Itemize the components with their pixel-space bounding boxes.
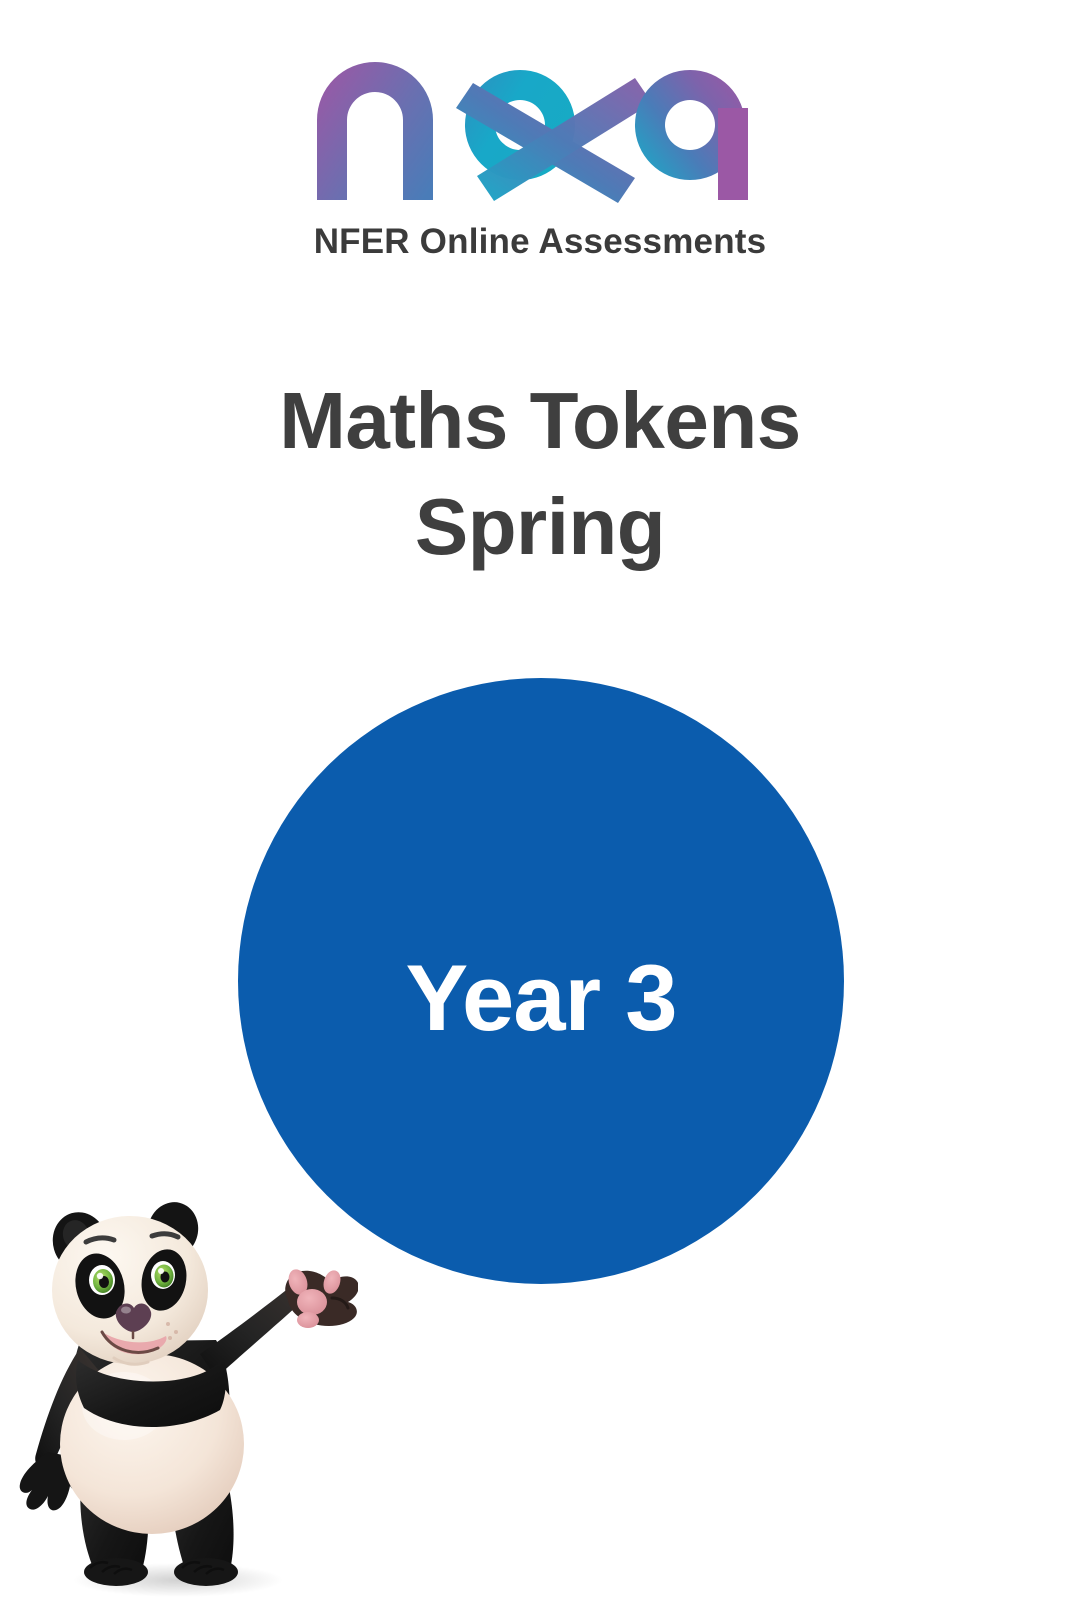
panda-mascot-pointing-icon (18, 1182, 358, 1600)
brand-logo-block: NFER Online Assessments (0, 48, 1080, 259)
page-title: Maths Tokens Spring (0, 368, 1080, 581)
page-title-line-1: Maths Tokens (0, 368, 1080, 474)
assessment-cover-page: NFER Online Assessments Maths Tokens Spr… (0, 0, 1080, 1600)
page-title-line-2: Spring (0, 474, 1080, 580)
noa-infinity-logo-icon (305, 48, 775, 208)
brand-wordmark: NFER Online Assessments (0, 224, 1080, 259)
year-badge-label: Year 3 (405, 951, 676, 1045)
